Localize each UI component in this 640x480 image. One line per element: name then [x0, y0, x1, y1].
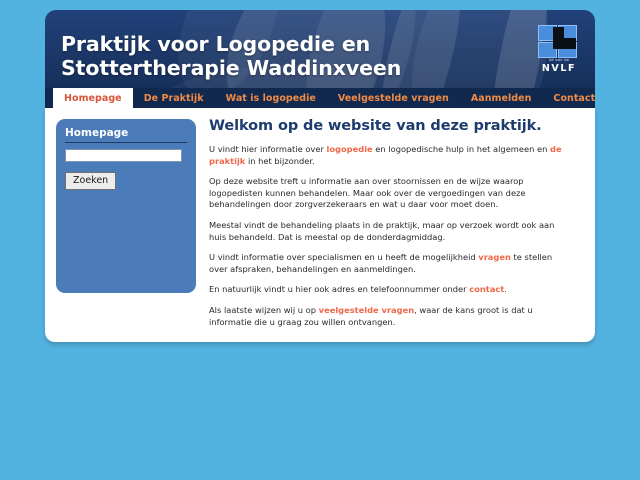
content-text: . [504, 284, 507, 294]
content-paragraph: Als laatste wijzen wij u op veelgestelde… [209, 305, 573, 328]
main-content: Welkom op de website van deze praktijk. … [196, 116, 595, 328]
site-title: Praktijk voor Logopedie en Stottertherap… [61, 32, 491, 80]
nav-item-contact[interactable]: Contact [542, 88, 606, 108]
page-body: Homepage Zoeken Welkom op de website van… [45, 108, 595, 342]
content-paragraph: U vindt hier informatie over logopedie e… [209, 144, 573, 167]
sidebar: Homepage Zoeken [56, 119, 196, 293]
nav-item-homepage[interactable]: Homepage [53, 88, 133, 108]
content-paragraph: Meestal vindt de behandeling plaats in d… [209, 220, 573, 243]
content-text: Meestal vindt de behandeling plaats in d… [209, 220, 554, 242]
content-paragraph: U vindt informatie over specialismen en … [209, 252, 573, 275]
sidebar-title: Homepage [65, 127, 187, 143]
content-link-vragen[interactable]: vragen [478, 252, 511, 262]
content-text: U vindt informatie over specialismen en … [209, 252, 478, 262]
nav-item-wat-is-logopedie[interactable]: Wat is logopedie [215, 88, 327, 108]
page-container: Praktijk voor Logopedie en Stottertherap… [45, 10, 595, 342]
content-text: en logopedische hulp in het algemeen en [373, 144, 550, 154]
search-input[interactable] [65, 149, 182, 162]
nav-item-aanmelden[interactable]: Aanmelden [460, 88, 543, 108]
content-link-logopedie[interactable]: logopedie [327, 144, 373, 154]
main-navigation: HomepageDe PraktijkWat is logopedieVeelg… [45, 88, 595, 108]
content-text: En natuurlijk vindt u hier ook adres en … [209, 284, 469, 294]
content-paragraphs: U vindt hier informatie over logopedie e… [209, 144, 573, 328]
content-text: Als laatste wijzen wij u op [209, 305, 319, 315]
nvlf-logo-icon: lid van de NVLF [535, 14, 583, 76]
nav-item-de-praktijk[interactable]: De Praktijk [133, 88, 215, 108]
content-link-contact[interactable]: contact [469, 284, 504, 294]
content-text: in het bijzonder. [245, 156, 314, 166]
content-link-veelgestelde-vragen[interactable]: veelgestelde vragen [319, 305, 414, 315]
logo-name: NVLF [535, 63, 583, 74]
site-header: Praktijk voor Logopedie en Stottertherap… [45, 10, 595, 88]
search-button[interactable]: Zoeken [65, 172, 116, 190]
nav-item-veelgestelde-vragen[interactable]: Veelgestelde vragen [327, 88, 460, 108]
content-text: Op deze website treft u informatie aan o… [209, 176, 526, 209]
content-paragraph: Op deze website treft u informatie aan o… [209, 176, 573, 211]
site-title-line-1: Praktijk voor Logopedie en [61, 32, 491, 56]
logo-l-shape [553, 27, 564, 49]
page-title: Welkom op de website van deze praktijk. [209, 118, 573, 135]
nvlf-logo-mark [538, 25, 578, 58]
content-paragraph: En natuurlijk vindt u hier ook adres en … [209, 284, 573, 296]
content-text: U vindt hier informatie over [209, 144, 327, 154]
site-title-line-2: Stottertherapie Waddinxveen [61, 56, 491, 80]
